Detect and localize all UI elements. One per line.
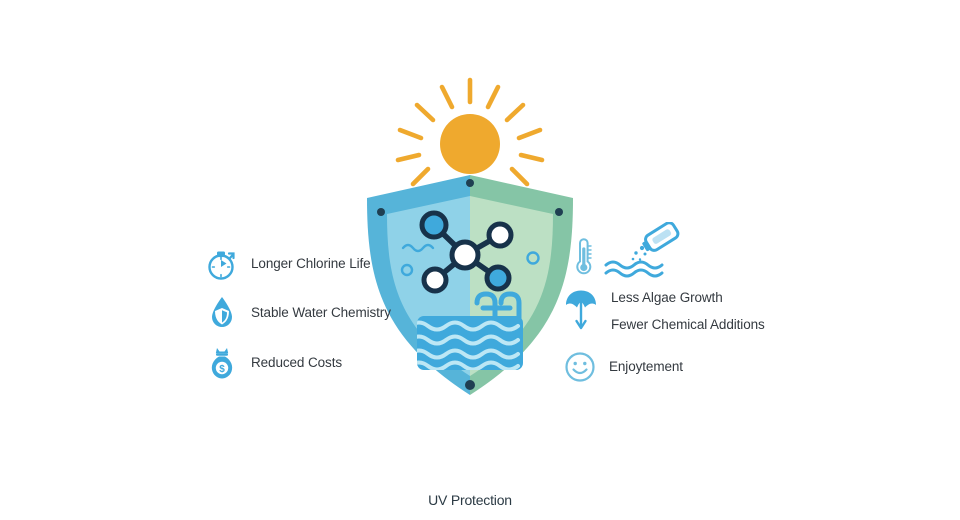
benefit-label: Less Algae Growth	[611, 290, 765, 306]
benefit-label: Fewer Chemical Additions	[611, 317, 765, 333]
shield-rivet-bottom	[465, 380, 475, 390]
benefit-label: Stable Water Chemistry	[251, 305, 391, 321]
pool-water-icon	[410, 316, 523, 370]
smiley-face-icon	[563, 346, 597, 388]
shield-rivet-right	[555, 208, 563, 216]
shield-rivet-top	[466, 179, 474, 187]
svg-text:$: $	[219, 364, 225, 375]
benefit-label: Enjoytement	[609, 359, 683, 375]
chemical-bottle-pour-icon	[600, 222, 686, 278]
sun-disc	[440, 114, 500, 174]
thermometer-icon	[566, 236, 600, 278]
benefit-enjoyment[interactable]: Enjoytement	[563, 346, 683, 388]
umbrella-arrow-icon	[563, 288, 599, 334]
benefit-algae-and-chemicals[interactable]: Less Algae Growth Fewer Chemical Additio…	[563, 288, 765, 334]
benefit-longer-chlorine-life[interactable]: Longer Chlorine Life	[205, 243, 371, 285]
shield-label: UV Protection	[355, 492, 585, 508]
infographic-canvas: UV Protection Longer Chlorine Life	[0, 0, 960, 520]
benefit-label: Longer Chlorine Life	[251, 256, 371, 272]
benefit-label: Reduced Costs	[251, 355, 342, 371]
stopwatch-icon	[205, 243, 239, 285]
benefit-chemical-bottle-pour[interactable]	[600, 222, 698, 278]
benefit-stable-water-chemistry[interactable]: Stable Water Chemistry	[205, 292, 391, 334]
shield-rivet-left	[377, 208, 385, 216]
money-bag-icon: $	[205, 342, 239, 384]
shield-icon: UV Protection	[355, 170, 585, 400]
benefit-reduced-costs[interactable]: $ Reduced Costs	[205, 342, 342, 384]
water-drop-shield-icon	[205, 292, 239, 334]
